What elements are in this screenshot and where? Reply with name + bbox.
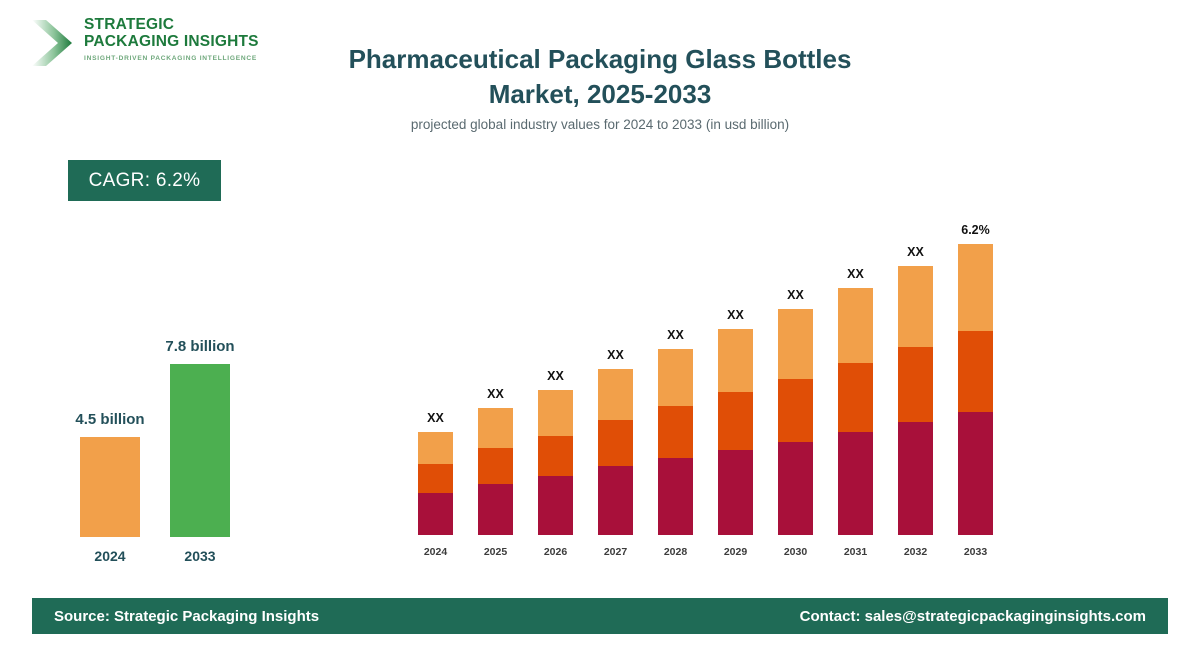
stacked-bar-segment-segment-3 [658, 349, 693, 406]
stacked-bar-segment-segment-2 [898, 347, 933, 422]
stacked-bar-segment-segment-2 [418, 464, 453, 494]
stacked-bar-2028 [658, 349, 693, 535]
logo-wordmark: STRATEGIC PACKAGING INSIGHTS INSIGHT-DRI… [84, 16, 259, 62]
logo-tagline: INSIGHT-DRIVEN PACKAGING INTELLIGENCE [84, 55, 259, 62]
stacked-bar-2025 [478, 408, 513, 535]
stacked-bar-segment-segment-2 [718, 392, 753, 449]
stacked-bar-2027 [598, 369, 633, 535]
infographic-page: STRATEGIC PACKAGING INSIGHTS INSIGHT-DRI… [0, 0, 1200, 650]
stacked-bar-segment-segment-3 [898, 266, 933, 347]
stacked-bar-segment-segment-3 [598, 369, 633, 420]
mini-bar-year-label: 2033 [150, 548, 250, 564]
footer-bar: Source: Strategic Packaging Insights Con… [32, 598, 1168, 634]
stacked-bar-2024 [418, 432, 453, 535]
stacked-bar-segment-segment-1 [658, 458, 693, 535]
stacked-bar-segment-segment-1 [958, 412, 993, 535]
stacked-bar-segment-segment-1 [778, 442, 813, 535]
stacked-bar-segment-segment-3 [478, 408, 513, 448]
cagr-badge: CAGR: 6.2% [68, 160, 221, 201]
mini-bar-fill [80, 437, 140, 537]
stacked-bar-segment-segment-1 [718, 450, 753, 535]
stacked-bar-segment-segment-3 [538, 390, 573, 436]
page-title: Pharmaceutical Packaging Glass Bottles M… [300, 42, 900, 112]
stacked-bar-segment-segment-3 [958, 244, 993, 331]
stacked-bar-value-label: XX [401, 411, 471, 425]
stacked-bar-value-label: 6.2% [941, 223, 1011, 237]
page-subtitle: projected global industry values for 202… [300, 117, 900, 132]
stacked-bar-value-label: XX [581, 348, 651, 362]
stacked-bar-year-label: 2033 [941, 546, 1011, 558]
stacked-bar-segment-segment-2 [838, 363, 873, 432]
mini-bar-value-label: 4.5 billion [30, 411, 190, 428]
logo-line-1: STRATEGIC [84, 16, 259, 33]
mini-bar-2033 [170, 364, 230, 537]
market-size-comparison-chart: 4.5 billion20247.8 billion2033 [0, 300, 300, 570]
stacked-bar-segment-segment-1 [898, 422, 933, 535]
stacked-bar-segment-segment-1 [598, 466, 633, 535]
mini-bar-value-label: 7.8 billion [120, 338, 280, 355]
stacked-bar-segment-segment-3 [418, 432, 453, 464]
stacked-bar-segment-segment-3 [778, 309, 813, 378]
stacked-bar-segment-segment-2 [778, 379, 813, 442]
stacked-bar-segment-segment-2 [658, 406, 693, 457]
stacked-bar-value-label: XX [821, 267, 891, 281]
footer-contact[interactable]: Contact: sales@strategicpackaginginsight… [800, 608, 1146, 625]
stacked-bar-2033 [958, 244, 993, 535]
green-chevron-icon [28, 14, 76, 72]
stacked-bar-value-label: XX [701, 308, 771, 322]
stacked-bar-segment-segment-3 [718, 329, 753, 392]
mini-bar-fill [170, 364, 230, 537]
stacked-bar-segment-segment-2 [958, 331, 993, 412]
footer-source: Source: Strategic Packaging Insights [54, 608, 319, 625]
stacked-bar-2026 [538, 390, 573, 535]
stacked-bar-value-label: XX [521, 369, 591, 383]
stacked-bar-2031 [838, 288, 873, 535]
stacked-bar-value-label: XX [461, 387, 531, 401]
stacked-bar-2032 [898, 266, 933, 535]
mini-bar-2024 [80, 437, 140, 537]
stacked-bar-value-label: XX [761, 288, 831, 302]
brand-logo: STRATEGIC PACKAGING INSIGHTS INSIGHT-DRI… [28, 12, 248, 78]
stacked-bar-segment-segment-2 [538, 436, 573, 476]
stacked-bar-value-label: XX [641, 328, 711, 342]
stacked-bar-segment-segment-1 [418, 493, 453, 535]
stacked-bar-2030 [778, 309, 813, 535]
stacked-bar-2029 [718, 329, 753, 535]
stacked-bar-segment-segment-3 [838, 288, 873, 363]
stacked-bar-value-label: XX [881, 245, 951, 259]
stacked-bar-segment-segment-1 [478, 484, 513, 535]
stacked-bar-segment-segment-2 [598, 420, 633, 466]
segment-stacked-forecast-chart: XX2024XX2025XX2026XX2027XX2028XX2029XX20… [400, 200, 1020, 560]
mini-bar-year-label: 2024 [60, 548, 160, 564]
logo-line-2: PACKAGING INSIGHTS [84, 33, 259, 50]
stacked-bar-segment-segment-1 [838, 432, 873, 535]
stacked-bar-segment-segment-1 [538, 476, 573, 535]
stacked-bar-segment-segment-2 [478, 448, 513, 484]
